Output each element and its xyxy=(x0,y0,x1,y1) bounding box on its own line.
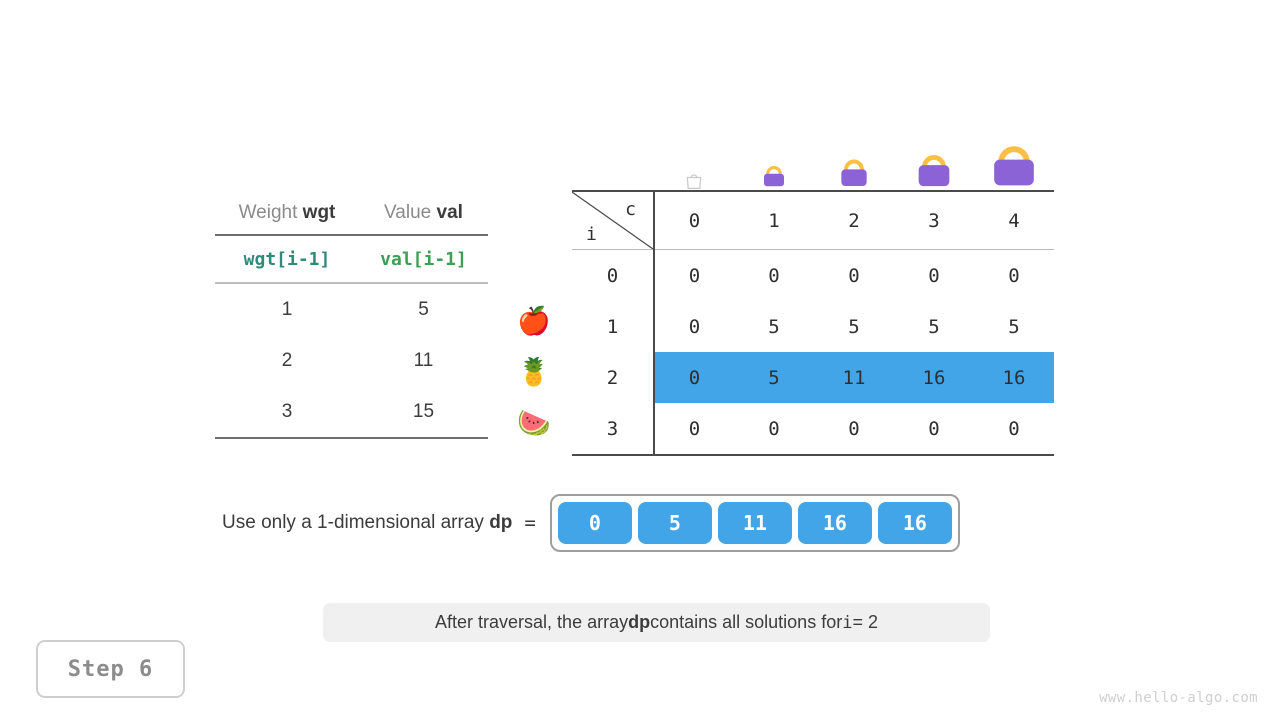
items-table-bottom-rule xyxy=(215,438,488,439)
item-value-2: 11 xyxy=(359,335,488,386)
dp-table-row: 1 0 5 5 5 5 xyxy=(572,301,1054,352)
items-header-value-code: val xyxy=(437,202,463,223)
dp-row-index-0: 0 xyxy=(572,250,654,302)
dp-row-index-1: 1 xyxy=(572,301,654,352)
dp-cell-2-4: 16 xyxy=(974,352,1054,403)
items-header-weight: Weight wgt xyxy=(215,192,359,235)
dp-axis-corner: c i xyxy=(572,191,654,250)
dp-col-axis-label: c xyxy=(625,199,636,220)
dp-cell-1-3: 5 xyxy=(894,301,974,352)
items-rule-right xyxy=(359,438,488,439)
bag-icon-empty-cell xyxy=(654,122,734,190)
bag-icon-4-cell xyxy=(974,122,1054,190)
dp-array-cell-4: 16 xyxy=(878,502,952,544)
dp-table: c i 0 1 2 3 4 0 0 0 0 0 0 1 0 5 5 5 5 2 xyxy=(572,190,1054,456)
dp-cell-3-4: 0 xyxy=(974,403,1054,455)
dp-table-header-row: c i 0 1 2 3 4 xyxy=(572,191,1054,250)
bag-icon-empty xyxy=(684,170,704,190)
step-badge: Step 6 xyxy=(36,640,185,698)
item-weight-1: 1 xyxy=(215,283,359,335)
dp-row-index-3: 3 xyxy=(572,403,654,455)
bag-icon-3-cell xyxy=(894,122,974,190)
dp-cell-2-1: 5 xyxy=(734,352,814,403)
dp-col-header-1: 1 xyxy=(734,191,814,250)
dp-cell-3-0: 0 xyxy=(654,403,734,455)
dp-array-equals: = xyxy=(524,512,535,534)
dp-array-cell-3: 16 xyxy=(798,502,872,544)
bag-icon-4 xyxy=(986,134,1042,190)
dp-cell-1-4: 5 xyxy=(974,301,1054,352)
items-subheader-wgt: wgt[i-1] xyxy=(215,235,359,283)
item-weight-2: 2 xyxy=(215,335,359,386)
caption-code-i: i xyxy=(842,613,852,633)
items-header-weight-code: wgt xyxy=(303,202,336,223)
dp-cell-3-2: 0 xyxy=(814,403,894,455)
dp-array-section: Use only a 1-dimensional array dp = 0 5 … xyxy=(222,495,960,550)
apple-icon: 🍎 xyxy=(508,296,560,347)
items-table-row: 2 11 xyxy=(215,335,488,386)
dp-cell-2-2: 11 xyxy=(814,352,894,403)
dp-cell-0-2: 0 xyxy=(814,250,894,302)
bag-icon-row xyxy=(654,122,1054,190)
bag-icon-1 xyxy=(759,160,789,190)
dp-cell-2-0: 0 xyxy=(654,352,734,403)
items-table: Weight wgt Value val wgt[i-1] val[i-1] 1… xyxy=(215,192,488,439)
dp-cell-0-4: 0 xyxy=(974,250,1054,302)
dp-cell-2-3: 16 xyxy=(894,352,974,403)
item-value-1: 5 xyxy=(359,283,488,335)
bag-icon-2 xyxy=(835,152,873,190)
items-header-weight-text: Weight xyxy=(239,202,303,223)
fruit-icon-column: 🍎 🍍 🍉 xyxy=(508,296,560,449)
diagonal-divider-icon xyxy=(572,192,653,249)
dp-cell-0-0: 0 xyxy=(654,250,734,302)
dp-table-row: 0 0 0 0 0 0 xyxy=(572,250,1054,302)
caption-text-3: = 2 xyxy=(852,612,878,633)
dp-row-axis-label: i xyxy=(586,224,597,245)
item-weight-3: 3 xyxy=(215,386,359,438)
dp-cell-0-1: 0 xyxy=(734,250,814,302)
dp-array-container: 0 5 11 16 16 xyxy=(550,494,960,552)
caption-text-2: contains all solutions for xyxy=(650,612,842,633)
dp-col-header-0: 0 xyxy=(654,191,734,250)
items-table-header-row: Weight wgt Value val xyxy=(215,192,488,235)
bag-icon-1-cell xyxy=(734,122,814,190)
dp-cell-3-3: 0 xyxy=(894,403,974,455)
dp-table-row: 3 0 0 0 0 0 xyxy=(572,403,1054,455)
bag-icon-3 xyxy=(911,144,957,190)
items-header-value: Value val xyxy=(359,192,488,235)
items-rule-left xyxy=(215,438,359,439)
items-header-value-text: Value xyxy=(384,202,436,223)
dp-row-index-2: 2 xyxy=(572,352,654,403)
caption-code-dp: dp xyxy=(628,612,650,633)
watermark: www.hello-algo.com xyxy=(1099,690,1258,706)
dp-array-label-text: Use only a 1-dimensional array xyxy=(222,512,489,533)
dp-col-header-2: 2 xyxy=(814,191,894,250)
items-table-row: 3 15 xyxy=(215,386,488,438)
dp-table-row-highlighted: 2 0 5 11 16 16 xyxy=(572,352,1054,403)
items-subheader-val: val[i-1] xyxy=(359,235,488,283)
dp-array-label-code: dp xyxy=(489,512,512,533)
items-table-subheader-row: wgt[i-1] val[i-1] xyxy=(215,235,488,283)
dp-cell-1-0: 0 xyxy=(654,301,734,352)
dp-array-cell-1: 5 xyxy=(638,502,712,544)
dp-cell-1-2: 5 xyxy=(814,301,894,352)
watermelon-icon: 🍉 xyxy=(508,398,560,449)
dp-col-header-3: 3 xyxy=(894,191,974,250)
dp-cell-3-1: 0 xyxy=(734,403,814,455)
dp-array-label: Use only a 1-dimensional array dp xyxy=(222,512,512,534)
caption-box: After traversal, the array dp contains a… xyxy=(323,603,990,642)
pineapple-icon: 🍍 xyxy=(508,347,560,398)
dp-col-header-4: 4 xyxy=(974,191,1054,250)
dp-array-cell-2: 11 xyxy=(718,502,792,544)
items-table-row: 1 5 xyxy=(215,283,488,335)
dp-cell-0-3: 0 xyxy=(894,250,974,302)
item-value-3: 15 xyxy=(359,386,488,438)
dp-cell-1-1: 5 xyxy=(734,301,814,352)
dp-array-cell-0: 0 xyxy=(558,502,632,544)
bag-icon-2-cell xyxy=(814,122,894,190)
caption-text-1: After traversal, the array xyxy=(435,612,628,633)
